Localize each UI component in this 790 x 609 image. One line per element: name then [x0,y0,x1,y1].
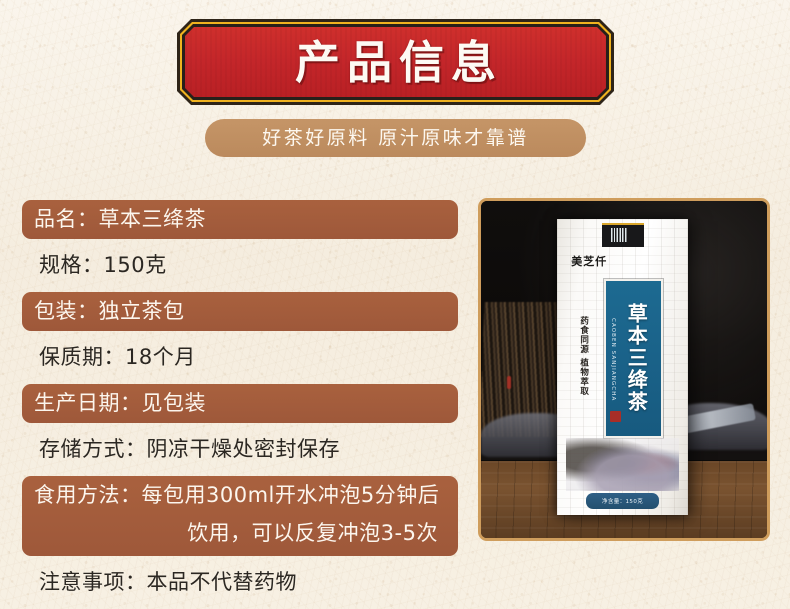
info-row-text-line2: 饮用，可以反复冲泡3-5次 [34,514,446,552]
info-row-specification: 规格：150克 [22,246,458,285]
product-package-box: 美芝仟 药食同源 植物萃取 CAOBEN SANJIANGCHA 草本三绛茶 净… [557,219,689,516]
row-spacer [22,239,458,246]
info-row-production-date: 生产日期：见包装 [22,384,458,423]
product-photo-scene: 美芝仟 药食同源 植物萃取 CAOBEN SANJIANGCHA 草本三绛茶 净… [481,201,767,538]
page-title: 产品信息 [288,40,503,85]
box-label-product-name: 草本三绛茶 [622,303,651,413]
info-row-notice: 注意事项：本品不代替药物 [22,563,458,602]
info-row-text: 品名：草本三绛茶 [34,209,206,230]
row-spacer [22,469,458,476]
product-info-list: 品名：草本三绛茶 规格：150克 包装：独立茶包 保质期：18个月 生产日期：见… [22,200,458,602]
info-row-text: 存储方式：阴凉干燥处密封保存 [39,439,340,460]
info-row-text: 包装：独立茶包 [34,301,185,322]
info-row-text: 规格：150克 [39,255,167,276]
subtitle-pill: 好茶好原料 原汁原味才靠谱 [205,119,586,157]
box-side-slogan: 药食同源 植物萃取 [577,316,590,396]
header-banner: 产品信息 [177,19,614,105]
herb-twig-accent [507,376,511,389]
row-spacer [22,331,458,338]
row-spacer [22,423,458,430]
row-spacer [22,377,458,384]
box-teal-label: CAOBEN SANJIANGCHA 草本三绛茶 [604,279,663,437]
info-row-packaging: 包装：独立茶包 [22,292,458,331]
red-seal-stamp [610,411,621,422]
subtitle-text: 好茶好原料 原汁原味才靠谱 [262,129,529,148]
info-row-text: 注意事项：本品不代替药物 [39,572,297,593]
brand-logo-text: 美芝仟 [571,253,607,269]
info-row-text: 生产日期：见包装 [34,393,206,414]
row-spacer [22,556,458,563]
row-spacer [22,285,458,292]
box-label-pinyin: CAOBEN SANJIANGCHA [610,318,616,401]
banner-red-plaque: 产品信息 [185,27,606,97]
net-weight-text: 净含量：150克 [602,497,643,505]
net-weight-badge: 净含量：150克 [586,493,660,508]
product-photo: 美芝仟 药食同源 植物萃取 CAOBEN SANJIANGCHA 草本三绛茶 净… [478,198,770,541]
info-row-product-name: 品名：草本三绛茶 [22,200,458,239]
info-row-directions: 食用方法：每包用300ml开水冲泡5分钟后 饮用，可以反复冲泡3-5次 [22,476,458,556]
info-row-text: 保质期：18个月 [39,347,196,368]
info-row-shelf-life: 保质期：18个月 [22,338,458,377]
qr-code-sticker [602,223,644,248]
info-row-text-line1: 食用方法：每包用300ml开水冲泡5分钟后 [34,476,446,514]
info-row-storage: 存储方式：阴凉干燥处密封保存 [22,430,458,469]
ink-painting-illustration [566,438,679,491]
